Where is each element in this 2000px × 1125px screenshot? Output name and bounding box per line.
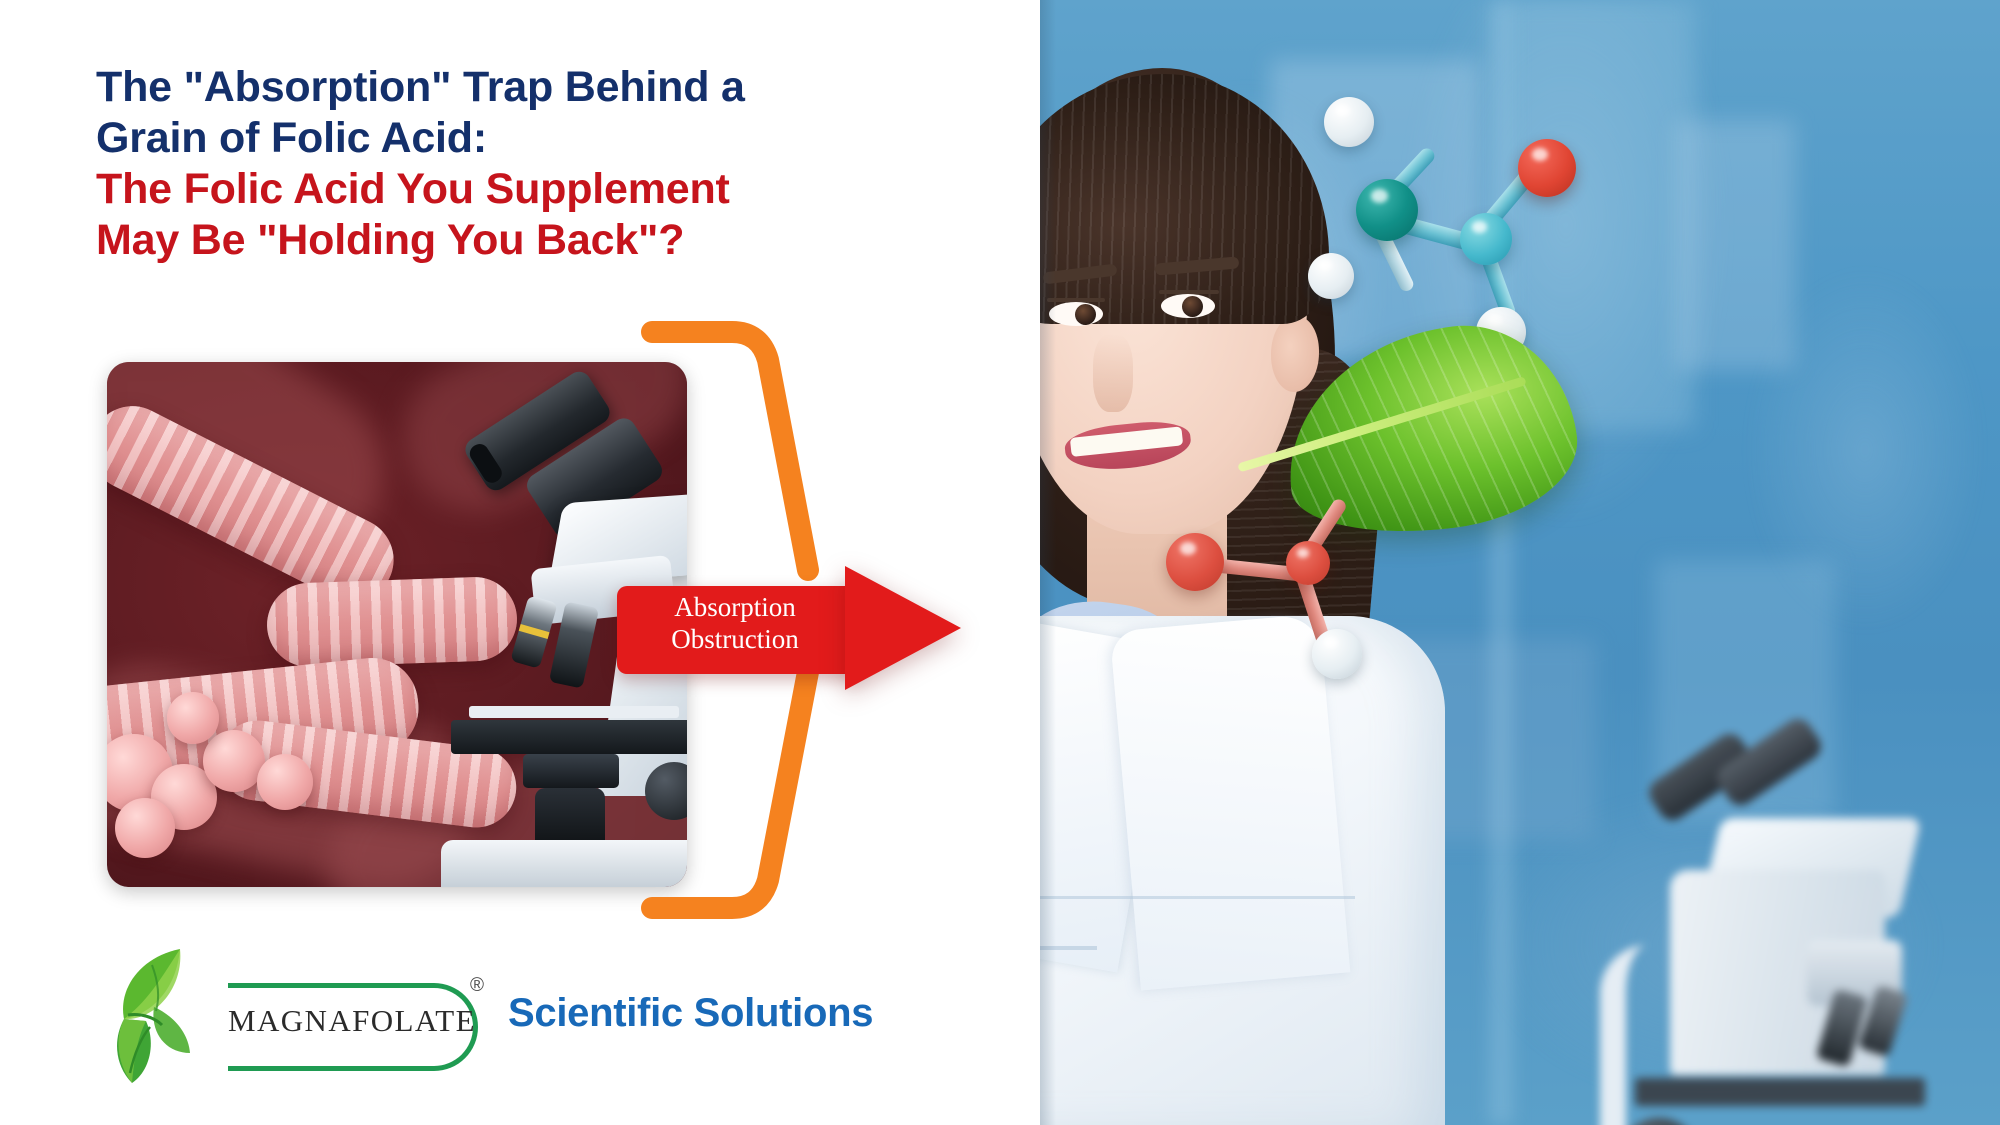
arrow-label: Absorption Obstruction (617, 592, 853, 656)
brand-name: MAGNAFOLATE (228, 1003, 476, 1039)
absorption-obstruction-arrow: Absorption Obstruction (617, 568, 967, 693)
arrow-head (845, 566, 961, 690)
poster-canvas: The "Absorption" Trap Behind a Grain of … (0, 0, 2000, 1125)
headline-line-4: May Be "Holding You Back"? (96, 215, 976, 266)
lab-blur-panel (1675, 120, 1795, 370)
intestine-microscope-image (107, 362, 687, 887)
molecule-red-white-icon (1150, 455, 1450, 705)
background-microscope-icon (1575, 700, 2000, 1125)
brand-tagline: Scientific Solutions (508, 991, 873, 1036)
headline-line-1: The "Absorption" Trap Behind a (96, 62, 976, 113)
headline-line-3: The Folic Acid You Supplement (96, 164, 976, 215)
headline-line-2: Grain of Folic Acid: (96, 113, 976, 164)
lab-photo-scene (1035, 0, 2000, 1125)
brand-logo[interactable]: MAGNAFOLATE ® Scientific Solutions (110, 955, 900, 1090)
arrow-label-line-2: Obstruction (617, 624, 853, 656)
leaf-logo-icon (110, 945, 230, 1090)
panel-edge-shadow (1040, 0, 1056, 1125)
registered-trademark-icon: ® (470, 975, 484, 997)
arrow-label-line-1: Absorption (617, 592, 853, 624)
headline-block: The "Absorption" Trap Behind a Grain of … (96, 62, 976, 266)
